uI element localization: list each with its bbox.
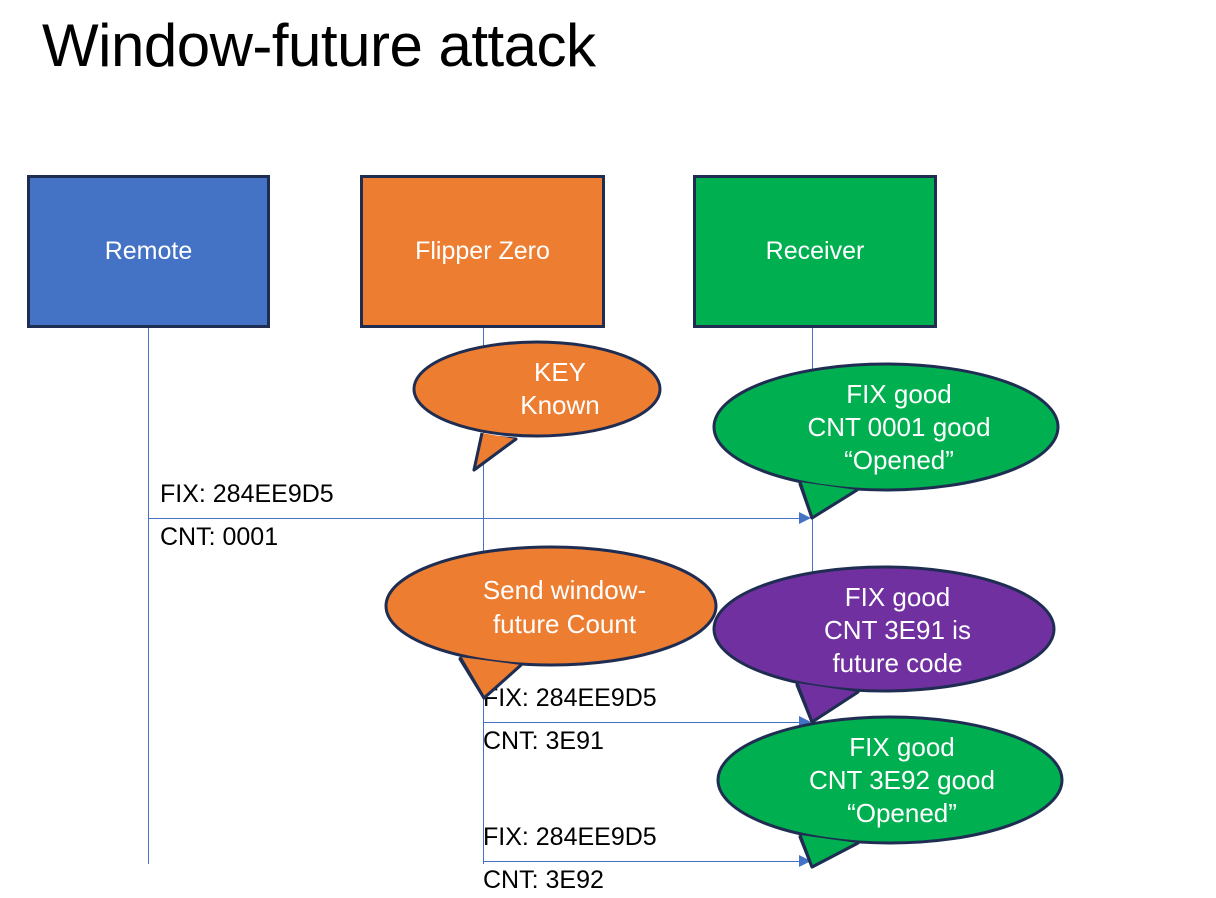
message-arrow-1 <box>148 518 800 519</box>
callout-shape-cnt-3e91-future-code <box>712 565 1057 730</box>
message-1-fix-label: FIX: 284EE9D5 <box>160 480 334 509</box>
slide-canvas: Window-future attack Remote Flipper Zero… <box>0 0 1216 898</box>
callout-send-window-future-count[interactable]: Send window- future Count <box>384 545 719 670</box>
message-3-fix-label: FIX: 284EE9D5 <box>483 823 657 852</box>
actor-label-receiver: Receiver <box>766 238 865 266</box>
page-title: Window-future attack <box>42 10 596 82</box>
callout-fix-good-cnt-3e92[interactable]: FIX good CNT 3E92 good “Opened” <box>716 715 1064 846</box>
message-1-cnt-label: CNT: 0001 <box>160 523 278 552</box>
actor-label-flipper-zero: Flipper Zero <box>415 238 550 266</box>
callout-shape-key-known <box>412 340 662 485</box>
callout-key-known[interactable]: KEY Known <box>412 340 662 438</box>
message-3-cnt-label: CNT: 3E92 <box>483 866 604 895</box>
actor-box-remote[interactable]: Remote <box>27 175 270 328</box>
actor-box-flipper-zero[interactable]: Flipper Zero <box>360 175 605 328</box>
callout-shape-fix-good-cnt-3e92 <box>716 715 1064 880</box>
callout-shape-fix-good-cnt-0001 <box>712 362 1060 527</box>
callout-cnt-3e91-future-code[interactable]: FIX good CNT 3E91 is future code <box>712 565 1057 696</box>
actor-label-remote: Remote <box>105 238 193 266</box>
lifeline-remote <box>148 328 149 864</box>
message-2-cnt-label: CNT: 3E91 <box>483 727 604 756</box>
callout-shape-send-window-future-count <box>384 545 719 710</box>
actor-box-receiver[interactable]: Receiver <box>693 175 937 328</box>
callout-fix-good-cnt-0001[interactable]: FIX good CNT 0001 good “Opened” <box>712 362 1060 493</box>
